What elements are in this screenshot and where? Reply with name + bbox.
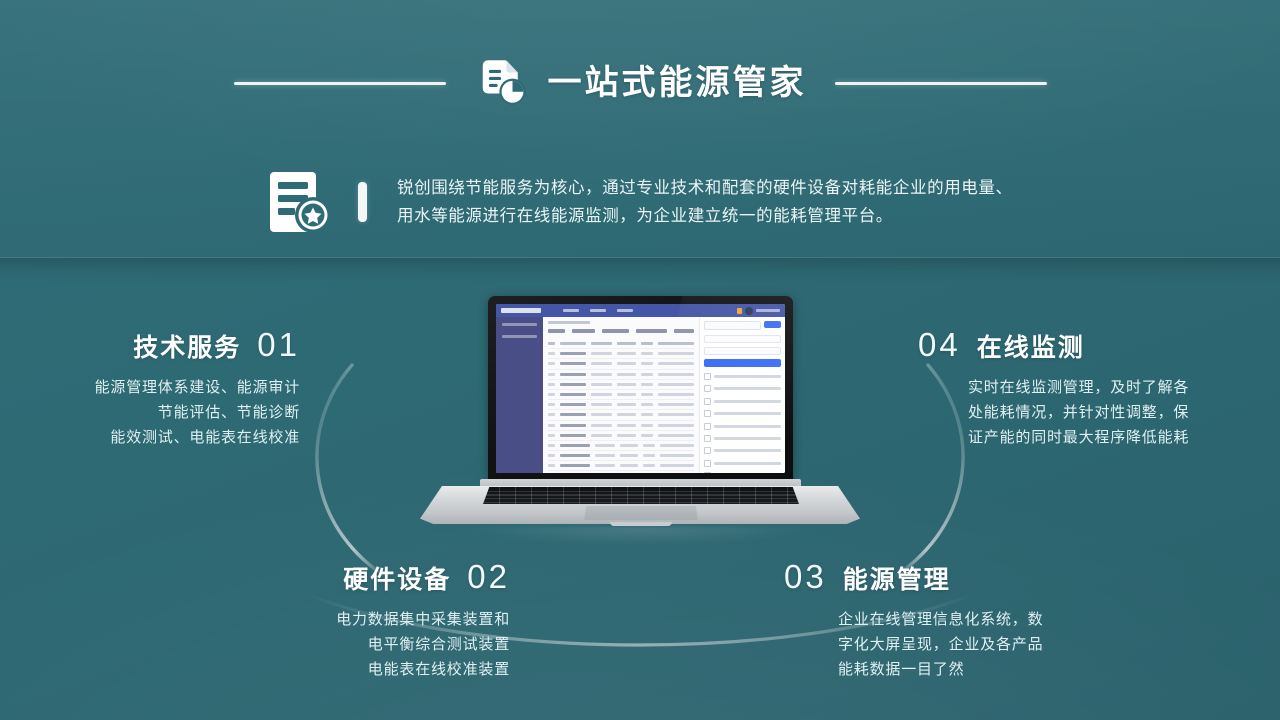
quadrant-heading: 04 在线监测 [918, 328, 1278, 361]
checkbox-item[interactable] [704, 410, 781, 417]
table-row[interactable] [548, 431, 694, 441]
data-table [548, 339, 694, 473]
checkbox-icon[interactable] [704, 373, 711, 380]
quadrant-hardware-equipment: 硬件设备 02 电力数据集中采集装置和 电平衡综合测试装置 电能表在线校准装置 [150, 560, 510, 682]
table-row[interactable] [548, 471, 694, 473]
table-row[interactable] [548, 370, 694, 380]
data-table-panel [543, 317, 699, 473]
document-star-icon [264, 166, 336, 238]
quadrant-description: 能源管理体系建设、能源审计 节能评估、节能诊断 能效测试、电能表在线校准 [0, 375, 300, 450]
quadrant-online-monitoring: 04 在线监测 实时在线监测管理，及时了解各 处能耗情况，并针对性调整，保 证产… [918, 328, 1278, 450]
search-button[interactable] [764, 321, 781, 328]
table-row[interactable] [548, 400, 694, 410]
search-input[interactable] [704, 321, 761, 330]
checkbox-item[interactable] [704, 398, 781, 405]
table-header-row [548, 339, 694, 349]
filter-chip[interactable] [572, 329, 595, 333]
table-row[interactable] [548, 410, 694, 420]
intro-line-1: 锐创围绕节能服务为核心，通过专业技术和配套的硬件设备对耗能企业的用电量、 [397, 174, 1013, 202]
checkbox-icon[interactable] [704, 472, 711, 473]
sidebar-item[interactable] [502, 323, 537, 326]
quadrant-number: 02 [467, 560, 510, 593]
column-settings-panel [699, 317, 785, 473]
slide-root: 一站式能源管家 锐创围绕节能服务为核心，通过专业技术和配套的硬件设备对耗能企业的… [0, 0, 1280, 720]
quadrant-heading: 03 能源管理 [784, 560, 1164, 593]
quadrant-line: 能源管理体系建设、能源审计 [0, 375, 300, 400]
divider-line-left-icon [234, 82, 446, 85]
search-row [704, 321, 781, 330]
laptop-mockup [420, 296, 860, 536]
app-logo-icon [501, 308, 541, 313]
checkbox-icon[interactable] [704, 460, 711, 467]
quadrant-caption: 能源管理 [843, 568, 951, 593]
checkbox-icon[interactable] [704, 423, 711, 430]
header-band-shadow [0, 258, 1280, 284]
app-nav-item[interactable] [563, 309, 579, 312]
quadrant-line: 电平衡综合测试装置 [150, 632, 510, 657]
quadrant-number: 03 [784, 560, 827, 593]
table-row[interactable] [548, 349, 694, 359]
quadrant-line: 能耗数据一目了然 [838, 657, 1164, 682]
quadrant-description: 实时在线监测管理，及时了解各 处能耗情况，并针对性调整，保 证产能的同时最大程序… [918, 375, 1278, 450]
vertical-accent-bar [358, 182, 367, 222]
intro-paragraph: 锐创围绕节能服务为核心，通过专业技术和配套的硬件设备对耗能企业的用电量、 用水等… [397, 174, 1013, 230]
laptop-lid [488, 296, 793, 482]
checkbox-icon[interactable] [704, 385, 711, 392]
header-band-edge [0, 257, 1280, 258]
quadrant-description: 企业在线管理信息化系统，数 字化大屏呈现，企业及各产品 能耗数据一目了然 [784, 607, 1164, 682]
filter-chip[interactable] [548, 329, 565, 333]
checkbox-icon[interactable] [704, 435, 711, 442]
filter-chip[interactable] [636, 329, 667, 333]
quadrant-number: 04 [918, 328, 961, 361]
document-chart-icon [474, 55, 530, 111]
quadrant-line: 字化大屏呈现，企业及各产品 [838, 632, 1164, 657]
app-nav [563, 309, 633, 312]
checkbox-icon[interactable] [704, 447, 711, 454]
quadrant-line: 电力数据集中采集装置和 [150, 607, 510, 632]
checkbox-item[interactable] [704, 447, 781, 454]
laptop-screen [496, 304, 785, 473]
quadrant-heading: 硬件设备 02 [150, 560, 510, 593]
quadrant-line: 处能耗情况，并针对性调整，保 [968, 400, 1278, 425]
table-row[interactable] [548, 441, 694, 451]
checkbox-item[interactable] [704, 435, 781, 442]
checkbox-item[interactable] [704, 385, 781, 392]
edit-pencil-icon[interactable] [737, 308, 742, 314]
quadrant-line: 企业在线管理信息化系统，数 [838, 607, 1164, 632]
app-main [543, 317, 785, 473]
select-dropdown[interactable] [704, 335, 781, 343]
checkbox-item[interactable] [704, 423, 781, 430]
table-row[interactable] [548, 359, 694, 369]
table-row[interactable] [548, 380, 694, 390]
filter-bar [548, 329, 694, 333]
quadrant-line: 证产能的同时最大程序降低能耗 [968, 425, 1278, 450]
sidebar-item[interactable] [502, 335, 537, 338]
username-label [756, 309, 780, 312]
app-topbar [496, 304, 785, 317]
app-body [496, 317, 785, 473]
quadrant-description: 电力数据集中采集装置和 电平衡综合测试装置 电能表在线校准装置 [150, 607, 510, 682]
intro-row: 锐创围绕节能服务为核心，通过专业技术和配套的硬件设备对耗能企业的用电量、 用水等… [264, 160, 1244, 244]
quadrant-heading: 技术服务 01 [0, 328, 300, 361]
quadrant-line: 能效测试、电能表在线校准 [0, 425, 300, 450]
primary-action-button[interactable] [704, 359, 781, 367]
filter-chip[interactable] [674, 329, 694, 333]
laptop-keyboard [483, 487, 799, 504]
intro-line-2: 用水等能源进行在线能源监测，为企业建立统一的能耗管理平台。 [397, 202, 1013, 230]
quadrant-line: 实时在线监测管理，及时了解各 [968, 375, 1278, 400]
select-dropdown[interactable] [704, 347, 781, 355]
avatar[interactable] [745, 307, 753, 315]
app-sidebar [496, 317, 543, 473]
app-user-area [737, 307, 780, 315]
app-nav-item[interactable] [617, 309, 633, 312]
table-row[interactable] [548, 461, 694, 471]
filter-chip[interactable] [602, 329, 629, 333]
table-row[interactable] [548, 421, 694, 431]
quadrant-caption: 技术服务 [133, 336, 241, 361]
table-row[interactable] [548, 451, 694, 461]
laptop-front-notch [610, 522, 672, 526]
breadcrumb [548, 321, 590, 324]
quadrant-energy-management: 03 能源管理 企业在线管理信息化系统，数 字化大屏呈现，企业及各产品 能耗数据… [784, 560, 1164, 682]
quadrant-caption: 在线监测 [977, 336, 1085, 361]
checkbox-icon[interactable] [704, 398, 711, 405]
quadrant-line: 电能表在线校准装置 [150, 657, 510, 682]
checkbox-item[interactable] [704, 373, 781, 380]
quadrant-number: 01 [257, 328, 300, 361]
checkbox-icon[interactable] [704, 410, 711, 417]
page-title: 一站式能源管家 [548, 66, 807, 100]
title-row: 一站式能源管家 [0, 52, 1280, 114]
table-row[interactable] [548, 390, 694, 400]
laptop-trackpad [584, 506, 698, 520]
quadrant-technical-service: 技术服务 01 能源管理体系建设、能源审计 节能评估、节能诊断 能效测试、电能表… [0, 328, 300, 450]
quadrant-line: 节能评估、节能诊断 [0, 400, 300, 425]
app-nav-item[interactable] [590, 309, 606, 312]
checkbox-item[interactable] [704, 460, 781, 467]
checkbox-item[interactable] [704, 472, 781, 473]
quadrant-caption: 硬件设备 [343, 568, 451, 593]
divider-line-right-icon [835, 82, 1047, 85]
